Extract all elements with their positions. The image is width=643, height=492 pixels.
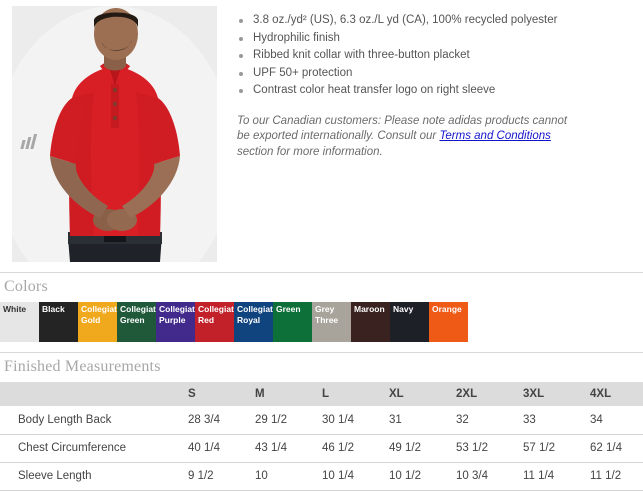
color-swatch-navy[interactable]: Navy bbox=[390, 302, 429, 342]
cell-value: 11 1/4 bbox=[523, 462, 590, 490]
column-header-s: S bbox=[188, 382, 255, 406]
canadian-customers-note: To our Canadian customers: Please note a… bbox=[237, 114, 577, 161]
color-swatch-label: Green bbox=[276, 304, 311, 315]
table-row: Body Length Back 28 3/4 29 1/2 30 1/4 31… bbox=[0, 406, 643, 434]
color-swatch-label: Collegiate Purple bbox=[159, 304, 194, 325]
cell-value: 10 3/4 bbox=[456, 462, 523, 490]
spec-bullet: 3.8 oz./yd² (US), 6.3 oz./L yd (CA), 100… bbox=[237, 12, 635, 30]
color-swatch-label: Black bbox=[42, 304, 77, 315]
column-header-xl: XL bbox=[389, 382, 456, 406]
spec-bullet: Hydrophilic finish bbox=[237, 30, 635, 48]
terms-and-conditions-link[interactable]: Terms and Conditions bbox=[439, 130, 550, 142]
measurements-section-title: Finished Measurements bbox=[0, 353, 643, 382]
row-label: Chest Circumference bbox=[0, 434, 188, 462]
color-swatch-label: Maroon bbox=[354, 304, 389, 315]
cell-value: 46 1/2 bbox=[322, 434, 389, 462]
column-header-measurement bbox=[0, 382, 188, 406]
color-swatch-label: Collegiate Gold bbox=[81, 304, 116, 325]
color-swatch-maroon[interactable]: Maroon bbox=[351, 302, 390, 342]
color-swatch-label: Collegiate Royal bbox=[237, 304, 272, 325]
cell-value: 57 1/2 bbox=[523, 434, 590, 462]
color-swatch-label: Navy bbox=[393, 304, 428, 315]
cell-value: 33 bbox=[523, 406, 590, 434]
product-photo-illustration bbox=[12, 6, 217, 262]
color-swatch-label: Orange bbox=[432, 304, 467, 315]
cell-value: 62 1/4 bbox=[590, 434, 643, 462]
color-swatch-row: White Black Collegiate Gold Collegiate G… bbox=[0, 302, 546, 342]
color-swatch-white[interactable]: White bbox=[0, 302, 39, 342]
table-row: Sleeve Length 9 1/2 10 10 1/4 10 1/2 10 … bbox=[0, 462, 643, 490]
spec-bullet: UPF 50+ protection bbox=[237, 65, 635, 83]
cell-value: 49 1/2 bbox=[389, 434, 456, 462]
cell-value: 34 bbox=[590, 406, 643, 434]
product-overview: 3.8 oz./yd² (US), 6.3 oz./L yd (CA), 100… bbox=[0, 0, 643, 262]
color-swatch-label: White bbox=[3, 304, 38, 315]
product-image[interactable] bbox=[12, 6, 217, 262]
spec-column: 3.8 oz./yd² (US), 6.3 oz./L yd (CA), 100… bbox=[217, 6, 643, 172]
row-label: Body Length Back bbox=[0, 406, 188, 434]
finished-measurements-table: S M L XL 2XL 3XL 4XL Body Length Back 28… bbox=[0, 382, 643, 491]
color-swatch-grey-three[interactable]: Grey Three bbox=[312, 302, 351, 342]
spec-bullet: Contrast color heat transfer logo on rig… bbox=[237, 82, 635, 100]
cell-value: 32 bbox=[456, 406, 523, 434]
spec-bullet: Ribbed knit collar with three-button pla… bbox=[237, 47, 635, 65]
color-swatch-green[interactable]: Green bbox=[273, 302, 312, 342]
cell-value: 40 1/4 bbox=[188, 434, 255, 462]
cell-value: 10 1/2 bbox=[389, 462, 456, 490]
color-swatch-collegiate-green[interactable]: Collegiate Green bbox=[117, 302, 156, 342]
table-header-row: S M L XL 2XL 3XL 4XL bbox=[0, 382, 643, 406]
color-swatch-label: Collegiate Red bbox=[198, 304, 233, 325]
cell-value: 10 bbox=[255, 462, 322, 490]
cell-value: 29 1/2 bbox=[255, 406, 322, 434]
table-row: Chest Circumference 40 1/4 43 1/4 46 1/2… bbox=[0, 434, 643, 462]
cell-value: 31 bbox=[389, 406, 456, 434]
column-header-m: M bbox=[255, 382, 322, 406]
color-swatch-collegiate-royal[interactable]: Collegiate Royal bbox=[234, 302, 273, 342]
cell-value: 10 1/4 bbox=[322, 462, 389, 490]
cell-value: 53 1/2 bbox=[456, 434, 523, 462]
color-swatch-collegiate-gold[interactable]: Collegiate Gold bbox=[78, 302, 117, 342]
cell-value: 28 3/4 bbox=[188, 406, 255, 434]
canada-note-text-after: section for more information. bbox=[237, 146, 383, 158]
color-swatch-collegiate-red[interactable]: Collegiate Red bbox=[195, 302, 234, 342]
table-header: S M L XL 2XL 3XL 4XL bbox=[0, 382, 643, 406]
table-body: Body Length Back 28 3/4 29 1/2 30 1/4 31… bbox=[0, 406, 643, 490]
column-header-l: L bbox=[322, 382, 389, 406]
column-header-3xl: 3XL bbox=[523, 382, 590, 406]
cell-value: 11 1/2 bbox=[590, 462, 643, 490]
color-swatch-black[interactable]: Black bbox=[39, 302, 78, 342]
color-swatch-collegiate-purple[interactable]: Collegiate Purple bbox=[156, 302, 195, 342]
column-header-4xl: 4XL bbox=[590, 382, 643, 406]
color-swatch-label: Grey Three bbox=[315, 304, 350, 325]
colors-section-title: Colors bbox=[0, 273, 643, 302]
color-swatch-orange[interactable]: Orange bbox=[429, 302, 468, 342]
spec-bullet-list: 3.8 oz./yd² (US), 6.3 oz./L yd (CA), 100… bbox=[237, 12, 635, 100]
cell-value: 9 1/2 bbox=[188, 462, 255, 490]
column-header-2xl: 2XL bbox=[456, 382, 523, 406]
cell-value: 43 1/4 bbox=[255, 434, 322, 462]
cell-value: 30 1/4 bbox=[322, 406, 389, 434]
color-swatch-label: Collegiate Green bbox=[120, 304, 155, 325]
row-label: Sleeve Length bbox=[0, 462, 188, 490]
